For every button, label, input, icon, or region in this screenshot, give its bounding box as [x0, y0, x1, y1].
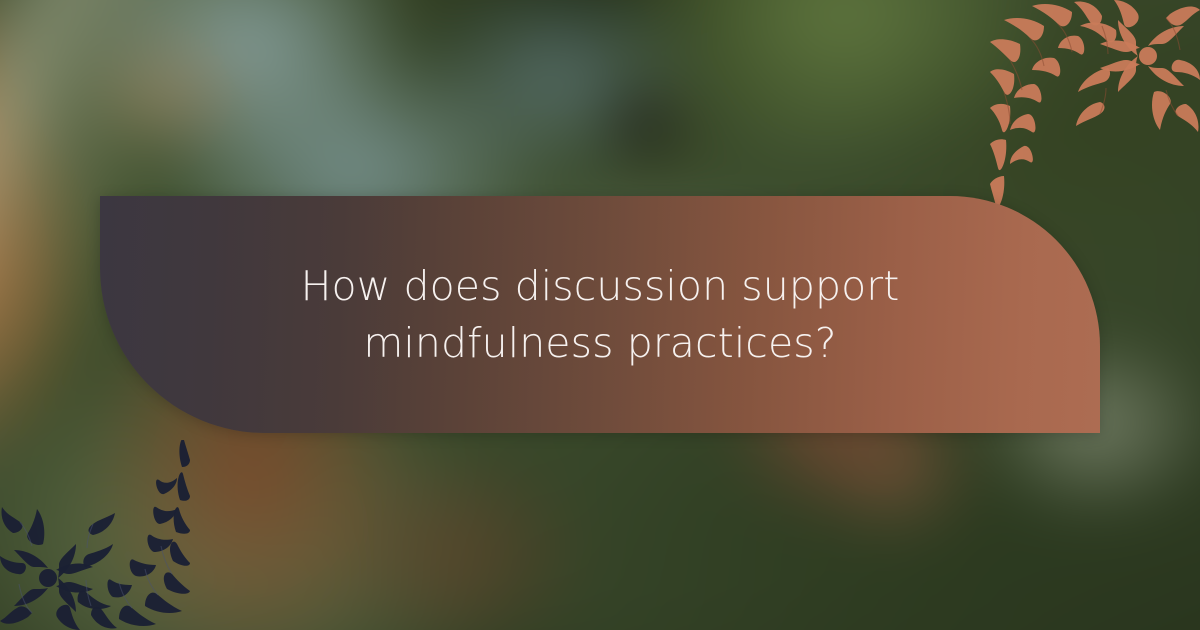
headline-banner: How does discussion support mindfulness …	[100, 196, 1100, 433]
social-card: How does discussion support mindfulness …	[0, 0, 1200, 630]
page-title: How does discussion support mindfulness …	[220, 258, 980, 371]
